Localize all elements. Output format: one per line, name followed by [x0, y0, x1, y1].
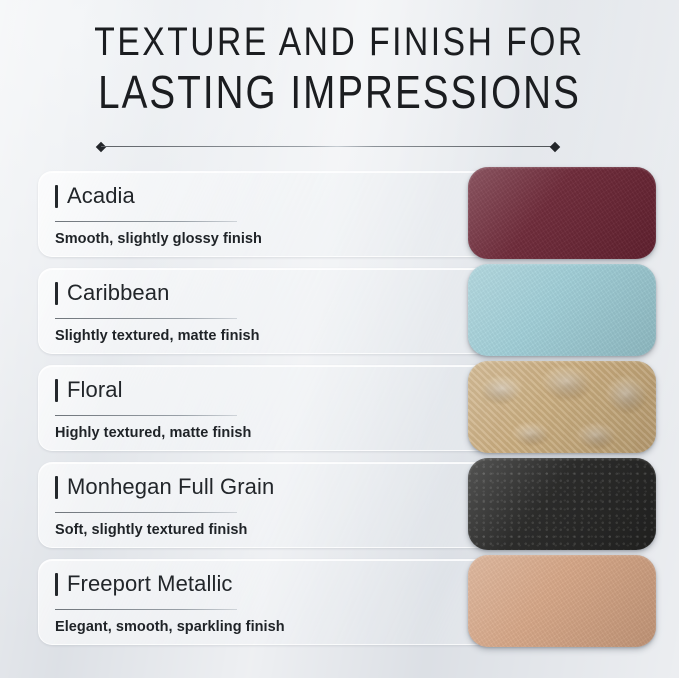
swatch-sheen — [468, 361, 656, 453]
list-item: Acadia Smooth, slightly glossy finish — [0, 167, 679, 264]
item-name: Caribbean — [67, 280, 169, 306]
item-text-block: Caribbean Slightly textured, matte finis… — [55, 280, 385, 310]
item-underline — [55, 318, 237, 319]
diamond-right-icon — [550, 142, 561, 153]
item-description: Highly textured, matte finish — [55, 425, 251, 441]
infographic-canvas: Texture and Finish for Lasting Impressio… — [0, 0, 679, 678]
accent-bar-icon — [55, 573, 58, 596]
item-text-block: Acadia Smooth, slightly glossy finish — [55, 183, 385, 213]
page-title-line-1: Texture and Finish for — [54, 22, 624, 63]
swatch-sheen — [468, 167, 656, 259]
color-swatch-floral — [468, 361, 656, 453]
list-item: Freeport Metallic Elegant, smooth, spark… — [0, 555, 679, 652]
item-underline — [55, 512, 237, 513]
item-text-block: Floral Highly textured, matte finish — [55, 377, 385, 407]
item-name: Freeport Metallic — [67, 571, 233, 597]
swatch-sheen — [468, 555, 656, 647]
swatch-sheen — [468, 264, 656, 356]
item-name: Floral — [67, 377, 123, 403]
accent-bar-icon — [55, 185, 58, 208]
accent-bar-icon — [55, 282, 58, 305]
item-description: Elegant, smooth, sparkling finish — [55, 619, 285, 635]
divider-ornament — [95, 141, 561, 153]
item-text-block: Freeport Metallic Elegant, smooth, spark… — [55, 571, 385, 601]
item-description: Smooth, slightly glossy finish — [55, 231, 262, 247]
item-name-row: Floral — [55, 377, 385, 407]
color-swatch-freeport-metallic — [468, 555, 656, 647]
color-swatch-acadia — [468, 167, 656, 259]
item-underline — [55, 415, 237, 416]
swatch-sheen — [468, 458, 656, 550]
list-item: Caribbean Slightly textured, matte finis… — [0, 264, 679, 361]
page-header: Texture and Finish for Lasting Impressio… — [0, 22, 679, 116]
item-name-row: Caribbean — [55, 280, 385, 310]
diamond-left-icon — [96, 142, 107, 153]
item-name-row: Freeport Metallic — [55, 571, 385, 601]
item-description: Slightly textured, matte finish — [55, 328, 260, 344]
list-item: Floral Highly textured, matte finish — [0, 361, 679, 458]
item-text-block: Monhegan Full Grain Soft, slightly textu… — [55, 474, 385, 504]
item-name: Acadia — [67, 183, 135, 209]
item-underline — [55, 609, 237, 610]
accent-bar-icon — [55, 379, 58, 402]
divider-rule — [101, 146, 555, 147]
color-swatch-caribbean — [468, 264, 656, 356]
accent-bar-icon — [55, 476, 58, 499]
item-description: Soft, slightly textured finish — [55, 522, 247, 538]
item-name-row: Monhegan Full Grain — [55, 474, 385, 504]
swatch-list: Acadia Smooth, slightly glossy finish Ca… — [0, 167, 679, 652]
color-swatch-monhegan-full-grain — [468, 458, 656, 550]
list-item: Monhegan Full Grain Soft, slightly textu… — [0, 458, 679, 555]
page-title-line-2: Lasting Impressions — [54, 69, 624, 116]
item-underline — [55, 221, 237, 222]
item-name: Monhegan Full Grain — [67, 474, 274, 500]
item-name-row: Acadia — [55, 183, 385, 213]
